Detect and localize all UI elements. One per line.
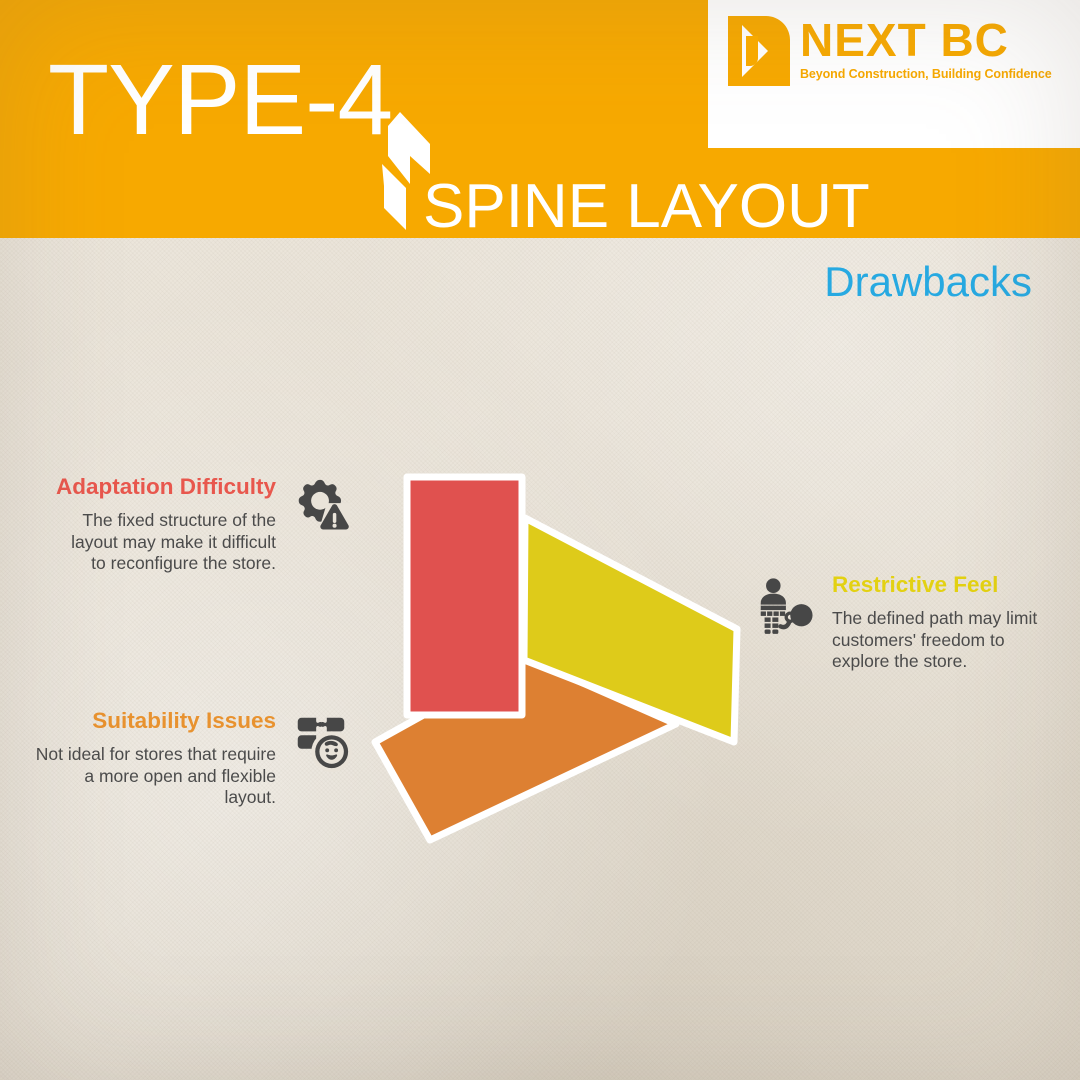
drawback-body-suitability: Not ideal for stores that require a more… — [30, 744, 276, 809]
logo-name: NEXT BC — [800, 16, 1052, 64]
orange-floor-panel — [375, 658, 676, 840]
header-banner: TYPE-4 SPINE LAYOUT NEXT BC Beyond Const… — [0, 0, 1080, 238]
page-title: TYPE-4 — [48, 48, 392, 152]
drawback-card-adaptation: Adaptation Difficulty The fixed structur… — [52, 474, 352, 575]
gear-warning-icon — [290, 476, 352, 538]
yellow-side-panel — [524, 518, 737, 742]
prisoner-ball-chain-icon — [752, 576, 814, 638]
red-wall-panel — [407, 477, 522, 715]
drawback-title-suitability: Suitability Issues — [92, 708, 276, 734]
puzzle-face-icon — [290, 710, 352, 772]
nextbc-monogram-icon — [728, 16, 790, 86]
drawback-body-adaptation: The fixed structure of the layout may ma… — [52, 510, 276, 575]
drawback-title-restrictive: Restrictive Feel — [832, 572, 998, 598]
logo-tagline: Beyond Construction, Building Confidence — [800, 67, 1052, 81]
drawback-body-restrictive: The defined path may limit customers' fr… — [832, 608, 1038, 673]
infographic-canvas: TYPE-4 SPINE LAYOUT NEXT BC Beyond Const… — [0, 0, 1080, 1080]
section-label-drawbacks: Drawbacks — [824, 258, 1032, 306]
drawback-card-restrictive: Restrictive Feel The defined path may li… — [752, 572, 1052, 673]
page-subtitle: SPINE LAYOUT — [423, 176, 870, 238]
logo-container: NEXT BC Beyond Construction, Building Co… — [708, 0, 1080, 148]
drawback-card-suitability: Suitability Issues Not ideal for stores … — [30, 708, 352, 809]
drawback-title-adaptation: Adaptation Difficulty — [56, 474, 276, 500]
